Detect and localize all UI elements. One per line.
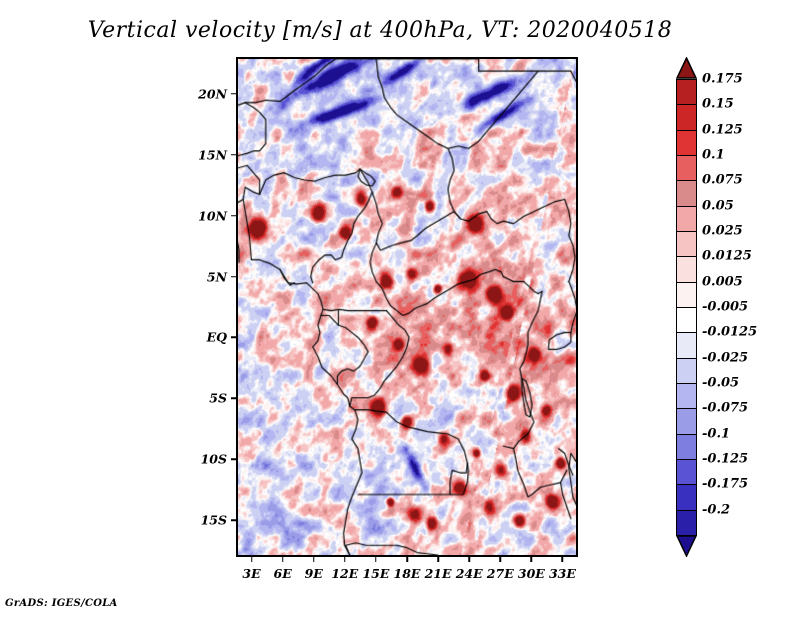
colorbar-min-arrow: [676, 535, 697, 557]
colorbar-segment: [676, 282, 697, 309]
x-axis-tick: [562, 557, 564, 562]
colorbar-segment: [676, 484, 697, 511]
colorbar-segment: [676, 383, 697, 410]
y-axis-tick-label: 20N: [198, 86, 227, 101]
page-title: Vertical velocity [m/s] at 400hPa, VT: 2…: [0, 18, 760, 43]
x-axis-tick: [313, 557, 315, 562]
colorbar-tick-label: 0.1: [702, 148, 725, 163]
x-axis-tick-label: 21E: [425, 566, 452, 581]
colorbar-tick-label: 0.0125: [702, 249, 752, 264]
map-plot-area: 20N15N10N5NEQ5S10S15S 3E6E9E12E15E18E21E…: [236, 57, 578, 557]
y-axis-tick-label: 15N: [198, 147, 227, 162]
x-axis-tick-label: 9E: [305, 566, 323, 581]
y-axis-tick-label: 10S: [201, 452, 227, 467]
colorbar-tick-label: -0.075: [702, 401, 748, 416]
colorbar-tick-label: -0.2: [702, 502, 730, 517]
x-axis-tick: [282, 557, 284, 562]
colorbar-tick-label: 0.075: [702, 173, 743, 188]
colorbar-segment: [676, 231, 697, 258]
y-axis-tick-label: 5S: [209, 391, 227, 406]
x-axis-tick: [468, 557, 470, 562]
colorbar-segment: [676, 332, 697, 359]
y-axis-tick: [231, 93, 236, 95]
x-axis-tick: [406, 557, 408, 562]
x-axis-tick: [344, 557, 346, 562]
colorbar-tick-label: -0.175: [702, 477, 748, 492]
x-axis-tick-label: 24E: [456, 566, 483, 581]
colorbar-segment: [676, 155, 697, 182]
x-axis-tick-label: 33E: [549, 566, 576, 581]
x-axis-tick-label: 12E: [331, 566, 358, 581]
colorbar-tick-label: -0.005: [702, 300, 748, 315]
y-axis-tick: [231, 398, 236, 400]
x-axis-tick: [251, 557, 253, 562]
colorbar-segment: [676, 79, 697, 106]
x-axis-tick-label: 6E: [274, 566, 292, 581]
y-axis-tick: [231, 154, 236, 156]
y-axis-tick-label: 10N: [198, 208, 227, 223]
y-axis-tick: [231, 337, 236, 339]
colorbar-tick-label: -0.025: [702, 350, 748, 365]
colorbar-segment: [676, 104, 697, 131]
colorbar-segment: [676, 307, 697, 334]
x-axis-tick-label: 27E: [487, 566, 514, 581]
x-axis-tick: [500, 557, 502, 562]
colorbar-tick-label: -0.1: [702, 426, 730, 441]
colorbar-segment: [676, 256, 697, 283]
colorbar-tick-label: 0.175: [702, 72, 743, 87]
colorbar-segment: [676, 130, 697, 157]
x-axis-tick-label: 18E: [394, 566, 421, 581]
x-axis-tick-label: 30E: [518, 566, 545, 581]
colorbar-tick-label: 0.005: [702, 274, 743, 289]
colorbar: 0.1750.150.1250.10.0750.050.0250.01250.0…: [676, 57, 697, 557]
colorbar-segment: [676, 358, 697, 385]
coastline-border-overlay: [238, 59, 576, 555]
colorbar-tick-label: 0.05: [702, 198, 734, 213]
colorbar-tick-label: -0.05: [702, 376, 739, 391]
plot-frame: [236, 57, 578, 557]
colorbar-tick-label: -0.0125: [702, 325, 757, 340]
colorbar-tick-label: 0.125: [702, 122, 743, 137]
x-axis-tick-label: 3E: [242, 566, 260, 581]
attribution-footer: GrADS: IGES/COLA: [5, 598, 118, 609]
colorbar-segment: [676, 434, 697, 461]
colorbar-segment: [676, 180, 697, 207]
colorbar-max-arrow: [676, 57, 697, 79]
colorbar-tick-label: -0.125: [702, 452, 748, 467]
y-axis-tick: [231, 520, 236, 522]
colorbar-segment: [676, 206, 697, 233]
colorbar-tick-label: 0.025: [702, 224, 743, 239]
y-axis-tick-label: EQ: [207, 330, 227, 345]
colorbar-tick-label: 0.15: [702, 97, 734, 112]
x-axis-tick: [531, 557, 533, 562]
colorbar-segment: [676, 510, 697, 537]
x-axis-tick-label: 15E: [362, 566, 389, 581]
colorbar-segment: [676, 408, 697, 435]
y-axis-tick-label: 15S: [201, 513, 227, 528]
x-axis-tick: [437, 557, 439, 562]
y-axis-tick: [231, 276, 236, 278]
colorbar-segment: [676, 459, 697, 486]
x-axis-tick: [375, 557, 377, 562]
y-axis-tick-label: 5N: [207, 269, 227, 284]
y-axis-tick: [231, 215, 236, 217]
y-axis-tick: [231, 459, 236, 461]
